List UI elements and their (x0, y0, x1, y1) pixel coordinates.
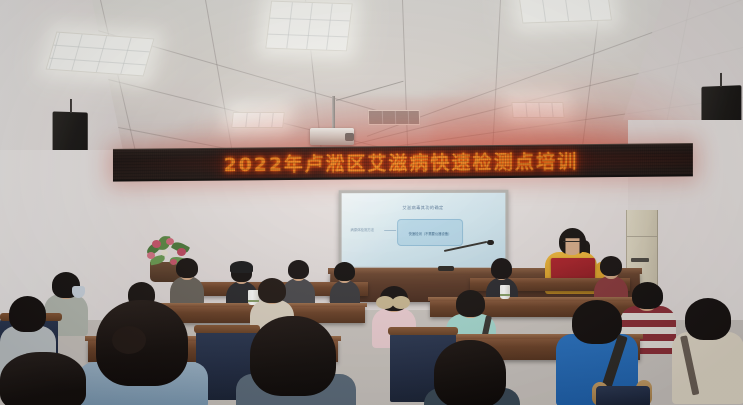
chair-frame (194, 325, 260, 333)
slide-box-text: 快速检测（不需要仪器设备） (398, 231, 462, 236)
slide-highlight-box: 快速检测（不需要仪器设备） (397, 219, 463, 246)
attendee-hair-bow (392, 296, 410, 309)
projector-lens-icon (345, 133, 354, 141)
presenter-glasses-icon (563, 241, 580, 245)
led-banner-text: 2022年卢淞区艾滋病快速检测点培训 (113, 146, 693, 179)
slide-left-label: 病原体检测方法 (350, 227, 373, 232)
ceiling-light-panel (46, 32, 155, 77)
ceiling-light-panel (265, 1, 353, 52)
conference-room-photo: 2022年卢淞区艾滋病快速检测点培训 艾滋病毒其功的确定 病原体检测方法 快速检… (0, 0, 743, 405)
attendee-hair-bun (112, 326, 146, 354)
slide-title: 艾滋病毒其功的确定 (342, 205, 506, 211)
led-banner: 2022年卢淞区艾滋病快速检测点培训 (113, 143, 693, 182)
microphone-icon (487, 240, 494, 245)
attendee-cap (230, 261, 253, 273)
paper-cup (500, 285, 510, 299)
projection-screen-surface: 艾滋病毒其功的确定 病原体检测方法 快速检测（不需要仪器设备） (342, 193, 506, 267)
microphone-base (438, 266, 454, 271)
ceiling-light-panel (518, 0, 612, 24)
projection-screen: 艾滋病毒其功的确定 病原体检测方法 快速检测（不需要仪器设备） (339, 190, 509, 271)
chair-frame (388, 327, 458, 335)
chair-foreground (596, 386, 650, 405)
slide-connector-line (384, 230, 396, 231)
